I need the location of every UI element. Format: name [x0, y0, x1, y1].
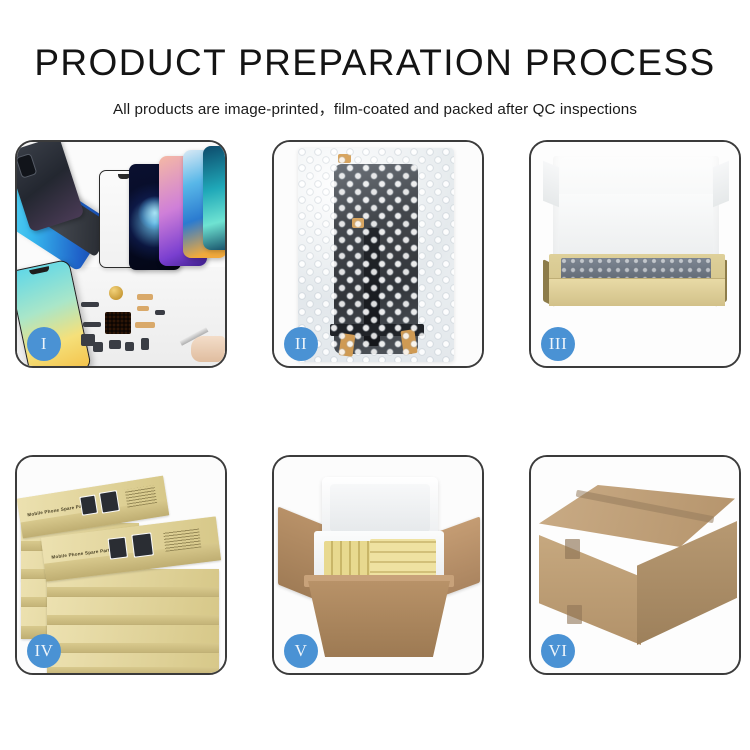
box-label-swatch	[79, 495, 98, 516]
process-step-panel-5[interactable]: V	[272, 455, 484, 675]
carton-body-icon	[308, 581, 450, 657]
step-badge-5: V	[284, 634, 318, 668]
process-step-panel-3[interactable]: III	[529, 140, 741, 368]
step-badge-3: III	[541, 327, 575, 361]
stacked-box-item	[47, 597, 219, 627]
box-label-swatch	[131, 532, 154, 557]
phone-display-teal-icon	[203, 146, 225, 250]
white-foam-liner-icon	[559, 194, 713, 260]
foam-lid-icon	[322, 477, 438, 539]
page-title: PRODUCT PREPARATION PROCESS	[0, 44, 750, 81]
step-badge-2: II	[284, 327, 318, 361]
stacked-box-item	[47, 653, 219, 673]
carton-tape-upper-icon	[565, 539, 580, 559]
carton-tape-lower-icon	[567, 605, 582, 624]
step-badge-1: I	[27, 327, 61, 361]
bubble-wrap-bag	[298, 148, 454, 362]
spare-components-cluster	[79, 284, 189, 364]
process-steps-grid: I II	[15, 140, 735, 676]
process-step-panel-2[interactable]: II	[272, 140, 484, 368]
stacked-box-item	[47, 625, 219, 655]
process-step-panel-4[interactable]: Mobile Phone Spare Parts Mobile Phone Sp…	[15, 455, 227, 675]
repair-tool-and-hand-icon	[179, 330, 221, 356]
process-step-panel-1[interactable]: I	[15, 140, 227, 368]
bubble-texture-overlay	[298, 148, 454, 362]
kraft-box-front-panel-icon	[549, 278, 725, 306]
step-badge-6: VI	[541, 634, 575, 668]
product-preparation-infographic: PRODUCT PREPARATION PROCESS All products…	[0, 0, 750, 750]
header: PRODUCT PREPARATION PROCESS All products…	[0, 0, 750, 119]
process-step-panel-6[interactable]: VI	[529, 455, 741, 675]
box-label-swatch	[99, 490, 120, 514]
page-subtitle: All products are image-printed，film-coat…	[0, 97, 750, 119]
box-label-swatch	[108, 537, 128, 560]
step-badge-4: IV	[27, 634, 61, 668]
carton-left-face-icon	[539, 535, 641, 645]
